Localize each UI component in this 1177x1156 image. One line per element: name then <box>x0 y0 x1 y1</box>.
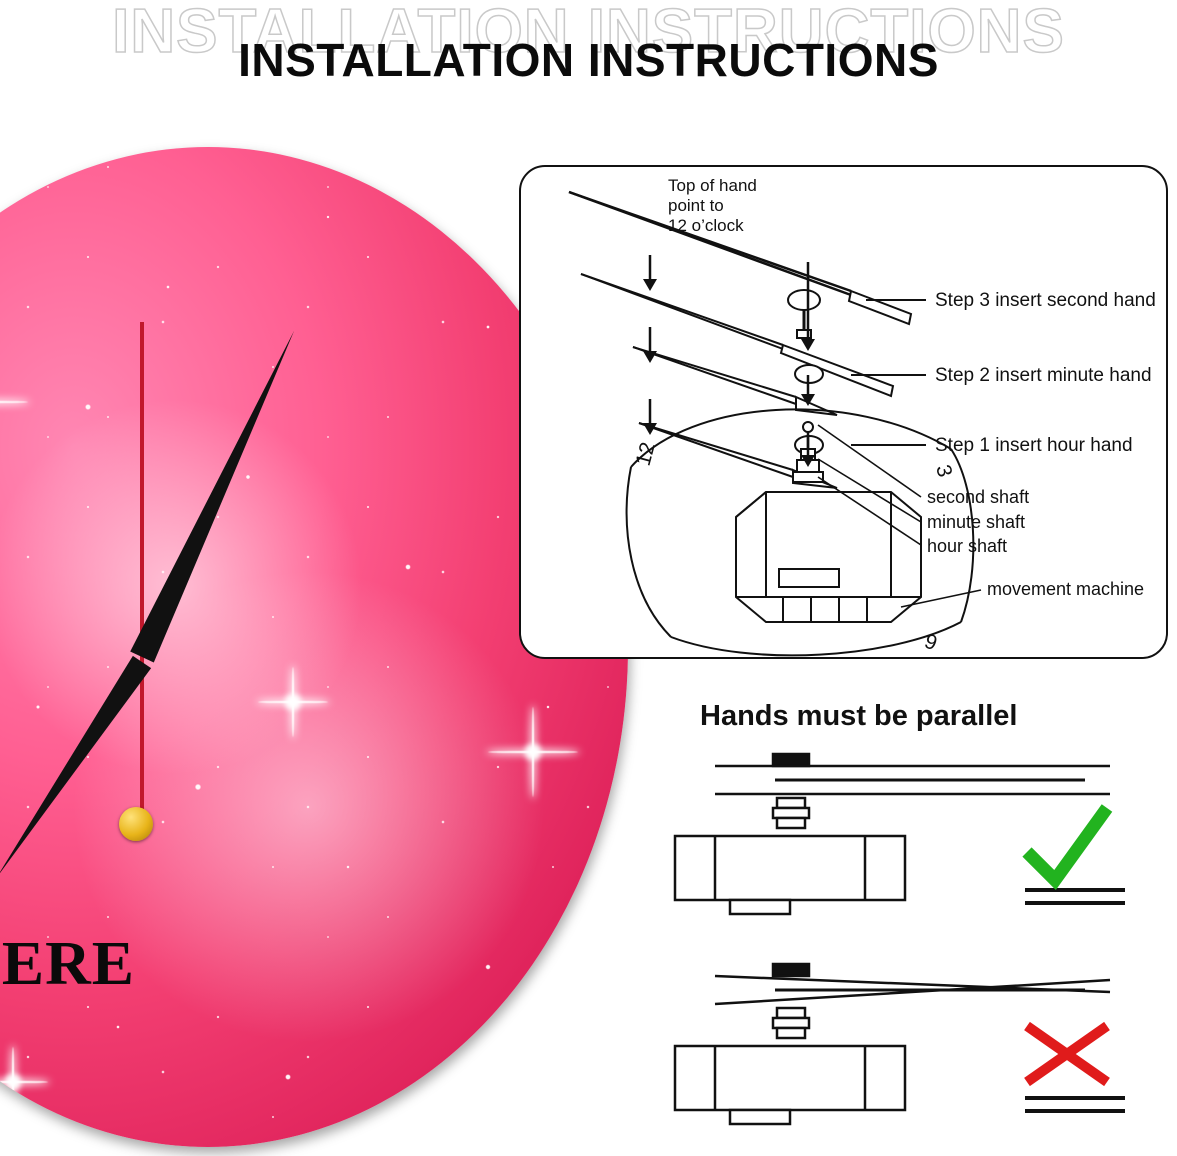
minute-shaft-label: minute shaft <box>927 512 1025 533</box>
page-title: INSTALLATION INSTRUCTIONS <box>0 33 1177 87</box>
step-2-label: Step 2 insert minute hand <box>935 365 1152 387</box>
parallel-diagram <box>655 740 1165 1140</box>
svg-text:12: 12 <box>632 440 660 469</box>
movement-machine-label: movement machine <box>987 579 1144 600</box>
top-note-line-1: Top of hand <box>668 176 757 196</box>
top-of-hand-note: Top of hand point to 12 o’clock <box>668 176 757 236</box>
cross-mark-icon <box>1027 1026 1107 1082</box>
top-note-line-3: 12 o’clock <box>668 216 757 236</box>
svg-text:6: 6 <box>922 628 941 654</box>
top-note-line-2: point to <box>668 196 757 216</box>
check-mark-icon <box>1027 808 1107 880</box>
steps-panel: 12 3 6 Step 3 insert second hand Step 2 … <box>519 165 1168 659</box>
step-3-label: Step 3 insert second hand <box>935 290 1156 312</box>
svg-text:3: 3 <box>931 462 956 479</box>
hour-shaft-label: hour shaft <box>927 536 1007 557</box>
second-shaft-label: second shaft <box>927 487 1029 508</box>
parallel-section-title: Hands must be parallel <box>700 700 1018 733</box>
step-1-label: Step 1 insert hour hand <box>935 435 1133 457</box>
center-cap <box>119 807 153 841</box>
second-hand <box>140 322 144 832</box>
design-placeholder-text: UR DESIGN HERE <box>0 929 392 1000</box>
